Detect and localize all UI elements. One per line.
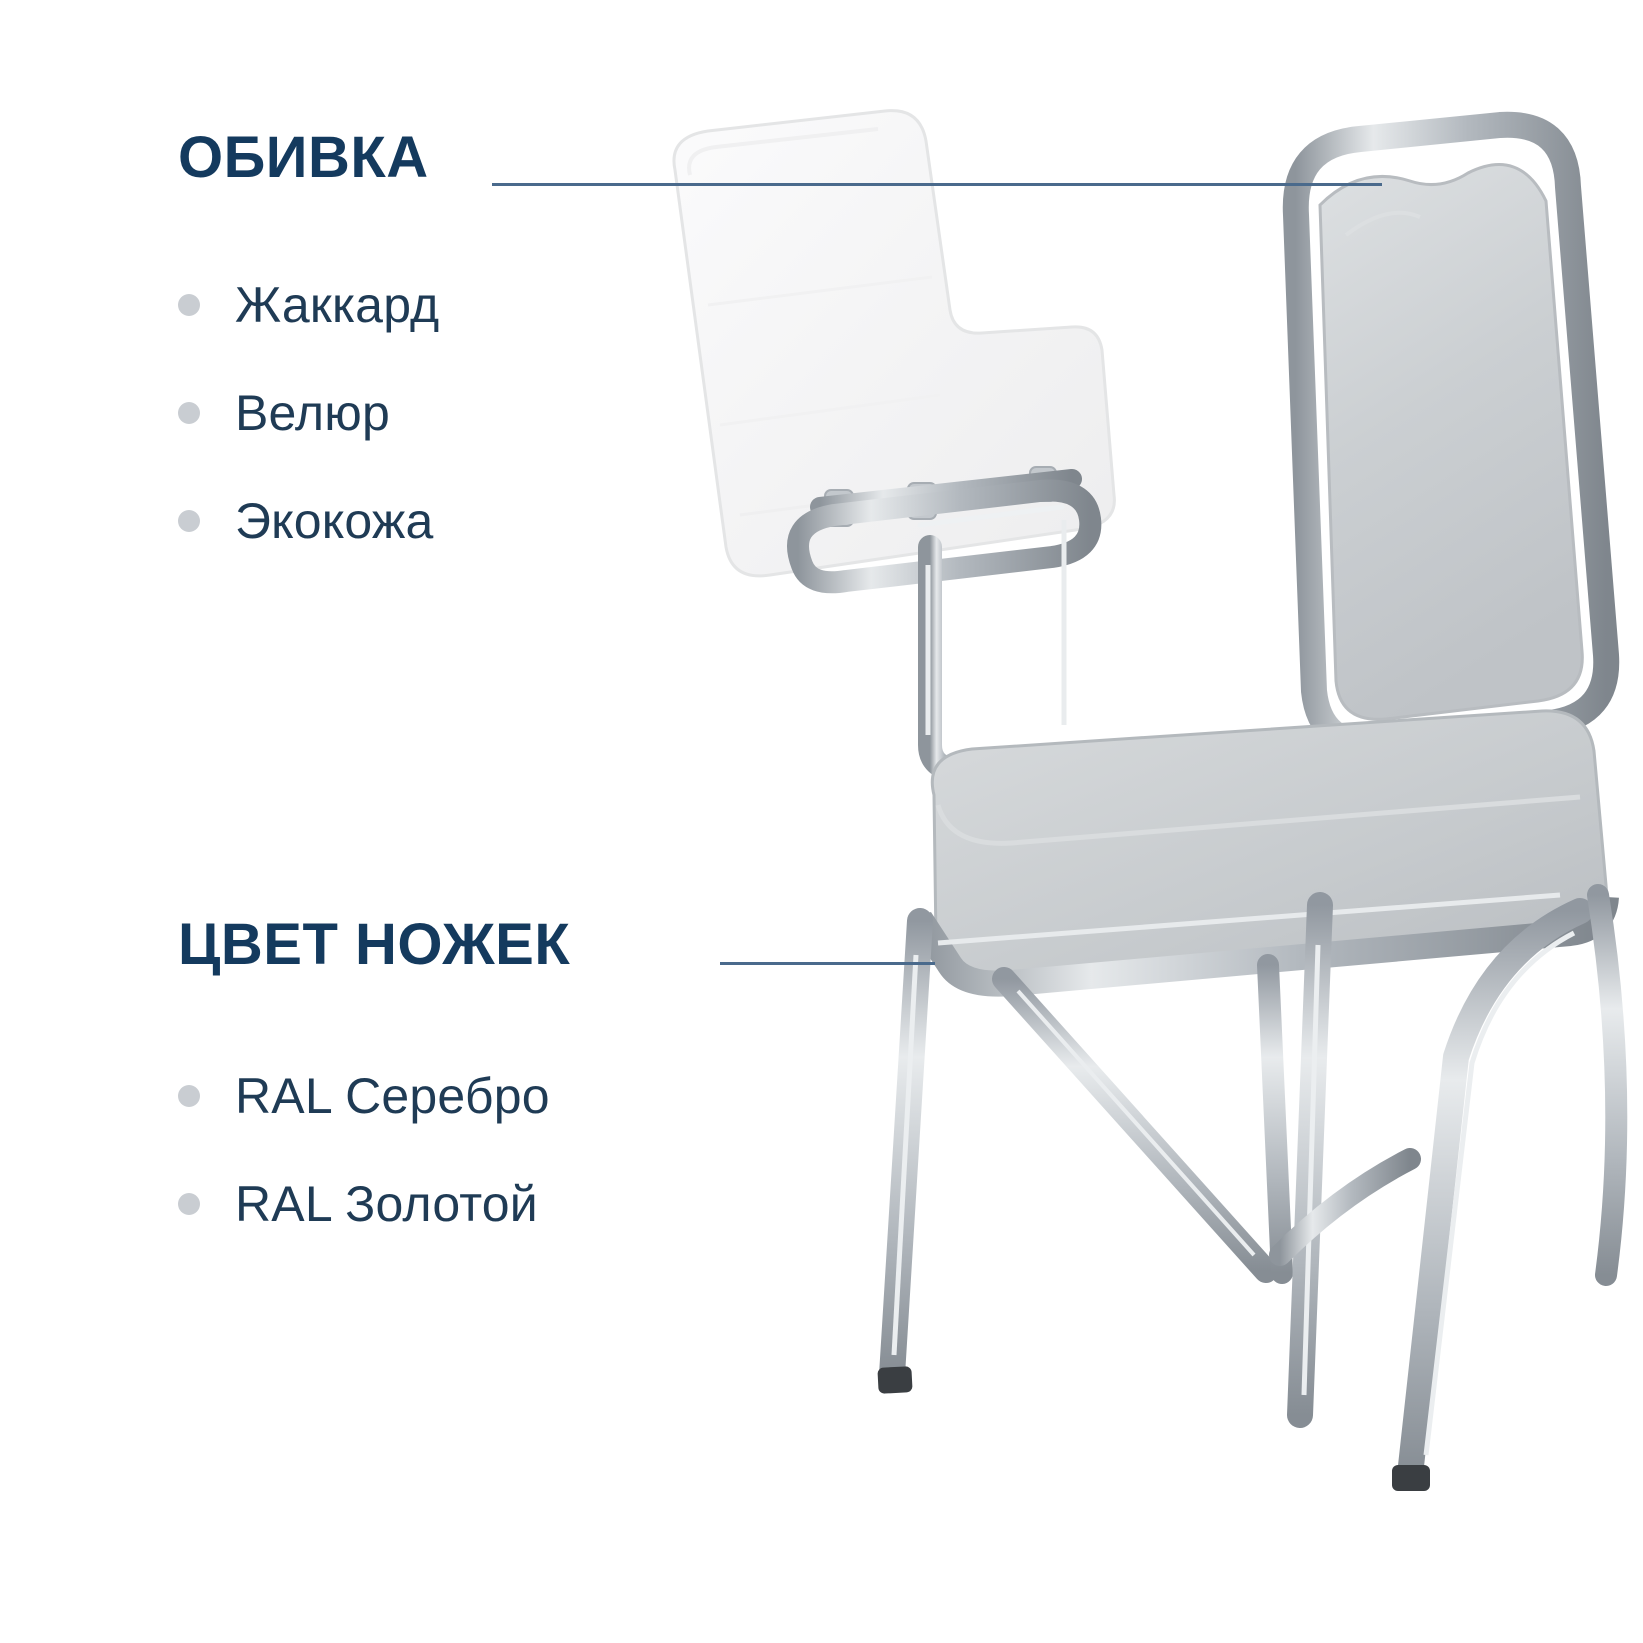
bullet-dot-icon xyxy=(178,1085,200,1107)
leader-line-legs xyxy=(720,962,935,965)
leg-right-bow xyxy=(1300,905,1320,1415)
bullet-dot-icon xyxy=(178,402,200,424)
section-leg-color: ЦВЕТ НОЖЕК RAL Серебро RAL Золотой xyxy=(178,915,570,1258)
section-upholstery: ОБИВКА Жаккард Велюр Экокожа xyxy=(178,128,439,575)
leg-front-right xyxy=(1268,965,1282,1273)
list-item: Экокожа xyxy=(178,467,439,575)
list-item: Велюр xyxy=(178,359,439,467)
list-item: Жаккард xyxy=(178,251,439,359)
bullet-dot-icon xyxy=(178,294,200,316)
upholstery-option-list: Жаккард Велюр Экокожа xyxy=(178,251,439,575)
upholstery-option-label: Жаккард xyxy=(235,276,439,334)
upholstery-option-label: Велюр xyxy=(235,384,390,442)
bullet-dot-icon xyxy=(178,510,200,532)
bullet-dot-icon xyxy=(178,1193,200,1215)
leg-rear-left xyxy=(1004,979,1266,1271)
leg-color-option-label: RAL Серебро xyxy=(235,1067,550,1125)
chair-svg xyxy=(620,95,1640,1555)
list-item: RAL Серебро xyxy=(178,1042,570,1150)
leg-color-option-list: RAL Серебро RAL Золотой xyxy=(178,1042,570,1258)
chair-illustration xyxy=(620,95,1640,1555)
section-title-leg-color: ЦВЕТ НОЖЕК xyxy=(178,915,570,976)
section-title-upholstery: ОБИВКА xyxy=(178,128,439,189)
leg-rear-right xyxy=(1392,911,1580,1491)
backrest-cushion xyxy=(1320,165,1582,720)
leader-line-upholstery xyxy=(492,183,1382,186)
leg-front-left xyxy=(877,921,920,1394)
leg-color-option-label: RAL Золотой xyxy=(235,1175,538,1233)
upholstery-option-label: Экокожа xyxy=(235,492,434,550)
list-item: RAL Золотой xyxy=(178,1150,570,1258)
poster-canvas: ОБИВКА Жаккард Велюр Экокожа ЦВЕТ НОЖЕК … xyxy=(0,0,1643,1643)
side-arc xyxy=(1598,895,1616,1275)
